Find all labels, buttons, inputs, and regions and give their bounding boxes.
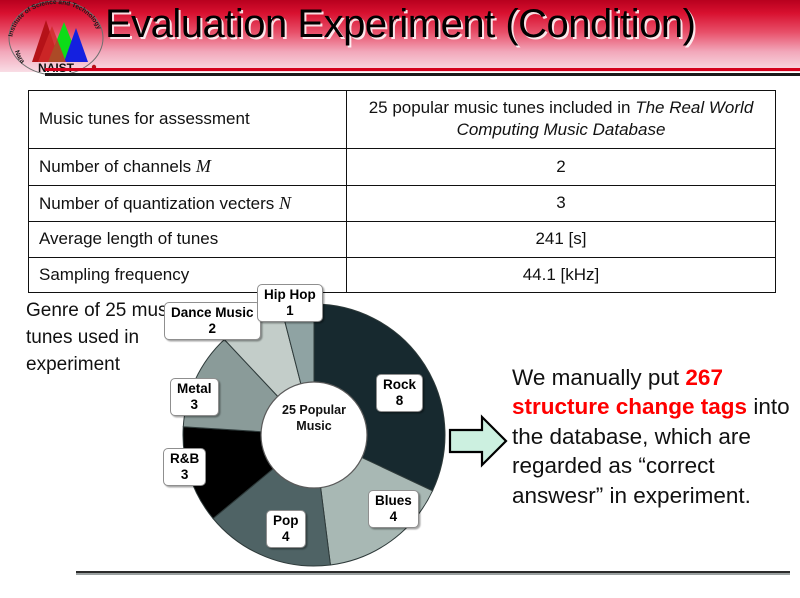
- row-label-text: Number of quantization vecters: [39, 194, 279, 213]
- conclusion-part1: We manually put: [512, 365, 685, 390]
- callout-label: Rock: [383, 377, 416, 393]
- callout-label: R&B: [170, 451, 199, 467]
- pie-callout-r-b: R&B3: [163, 448, 206, 486]
- table-row: Sampling frequency 44.1 [kHz]: [29, 257, 776, 292]
- arrow-right-icon: [447, 413, 509, 469]
- table-row: Average length of tunes 241 [s]: [29, 222, 776, 257]
- pie-callout-hip-hop: Hip Hop1: [257, 284, 323, 322]
- table-cell-value: 2: [347, 148, 776, 185]
- conclusion-text: We manually put 267 structure change tag…: [512, 363, 800, 510]
- pie-callout-blues: Blues4: [368, 490, 419, 528]
- svg-text:Institute of Science and Techn: Institute of Science and Technology: [7, 0, 102, 37]
- callout-label: Metal: [177, 381, 212, 397]
- table-cell-label: Number of quantization vecters N: [29, 185, 347, 222]
- svg-text:Nara: Nara: [13, 49, 26, 65]
- table-cell-value: 44.1 [kHz]: [347, 257, 776, 292]
- header-divider-red: [45, 68, 800, 71]
- callout-value: 3: [170, 467, 199, 483]
- table-cell-value: 25 popular music tunes included in The R…: [347, 91, 776, 149]
- table-cell-label: Average length of tunes: [29, 222, 347, 257]
- row-value-text: 25 popular music tunes included in: [369, 98, 636, 117]
- header-divider-black: [45, 73, 800, 76]
- donut-hole: [261, 382, 367, 488]
- page-title: Evaluation Experiment (Condition): [105, 2, 795, 47]
- table-cell-value: 3: [347, 185, 776, 222]
- callout-value: 4: [273, 529, 299, 545]
- table-row: Number of quantization vecters N 3: [29, 185, 776, 222]
- table-row: Number of channels M 2: [29, 148, 776, 185]
- genre-pie-chart: 25 Popular Music Rock8Blues4Pop4R&B3Meta…: [168, 296, 458, 574]
- callout-value: 8: [383, 393, 416, 409]
- pie-callout-dance-music: Dance Music2: [164, 302, 261, 340]
- flow-arrow-icon: [447, 413, 509, 469]
- callout-value: 2: [171, 321, 254, 337]
- callout-value: 4: [375, 509, 412, 525]
- experiment-condition-table: Music tunes for assessment 25 popular mu…: [28, 90, 776, 293]
- pie-callout-metal: Metal3: [170, 378, 219, 416]
- bottom-divider-shadow: [76, 573, 790, 575]
- table-cell-value: 241 [s]: [347, 222, 776, 257]
- naist-logo: NAIST Institute of Science and Technolog…: [2, 0, 110, 76]
- row-label-text: Music tunes for assessment: [39, 109, 250, 128]
- row-label-text: Number of channels: [39, 157, 196, 176]
- callout-label: Hip Hop: [264, 287, 316, 303]
- pie-callout-pop: Pop4: [266, 510, 306, 548]
- genre-caption: Genre of 25 music tunes used in experime…: [26, 298, 186, 379]
- callout-label: Dance Music: [171, 305, 254, 321]
- callout-label: Pop: [273, 513, 299, 529]
- table-cell-label: Music tunes for assessment: [29, 91, 347, 149]
- callout-value: 3: [177, 397, 212, 413]
- callout-value: 1: [264, 303, 316, 319]
- row-label-variable: M: [196, 156, 211, 176]
- table-row: Music tunes for assessment 25 popular mu…: [29, 91, 776, 149]
- pie-callout-rock: Rock8: [376, 374, 423, 412]
- callout-label: Blues: [375, 493, 412, 509]
- naist-logo-svg: NAIST Institute of Science and Technolog…: [2, 0, 110, 76]
- row-label-variable: N: [279, 193, 291, 213]
- table-cell-label: Number of channels M: [29, 148, 347, 185]
